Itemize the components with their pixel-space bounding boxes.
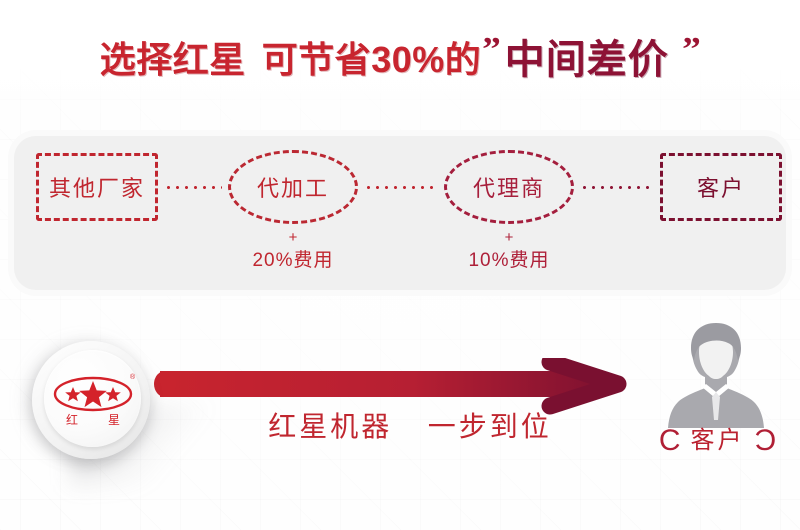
- chain-node-factory: 其他厂家: [36, 153, 158, 221]
- headline-part-2: 可节省30%的: [262, 42, 482, 78]
- slogan-part-2: 一步到位: [428, 411, 552, 442]
- hongxing-logo: ® 红 星: [44, 350, 141, 447]
- fee-oem: + 20%费用: [213, 228, 373, 274]
- fee-agent-plus: +: [429, 228, 589, 248]
- headline-part-1: 选择红星: [100, 42, 246, 78]
- chain-node-oem-label: 代加工: [257, 171, 329, 203]
- chain-node-customer: 客户: [660, 153, 782, 221]
- page-title: 选择红星 可节省30%的 ” 中间差价 ”: [0, 28, 800, 92]
- chain-node-oem: 代加工: [228, 150, 358, 224]
- customer-label: 客户: [691, 429, 745, 453]
- connector-oem-to-agent: [364, 186, 438, 189]
- bracket-right-icon: Ɔ: [755, 426, 777, 456]
- fee-agent: + 10%费用: [429, 228, 589, 274]
- businessman-silhouette: [660, 318, 772, 430]
- svg-text:红: 红: [65, 412, 77, 427]
- chain-node-customer-label: 客户: [697, 171, 745, 203]
- slogan-part-1: 红星机器: [268, 411, 392, 442]
- chain-node-agent: 代理商: [444, 150, 574, 224]
- headline-highlight: 中间差价: [505, 40, 669, 80]
- supply-chain-panel: 其他厂家 代加工 代理商 客户 + 20%费用 + 10%费用: [14, 136, 786, 290]
- fee-agent-amount: 10%费用: [429, 248, 589, 274]
- svg-text:®: ®: [130, 373, 136, 381]
- customer-label-group: C 客户 Ɔ: [640, 424, 795, 458]
- quote-close-icon: ”: [682, 33, 701, 67]
- svg-text:星: 星: [107, 413, 119, 427]
- connector-factory-to-oem: [164, 186, 222, 189]
- chain-node-agent-label: 代理商: [473, 171, 545, 203]
- fee-oem-amount: 20%费用: [213, 248, 373, 274]
- hongxing-logo-icon: ® 红 星: [50, 369, 136, 429]
- chain-node-factory-label: 其他厂家: [49, 171, 145, 203]
- bracket-left-icon: C: [659, 426, 681, 456]
- fee-oem-plus: +: [213, 228, 373, 248]
- quote-open-icon: ”: [482, 33, 501, 67]
- bottom-slogan: 红星机器 一步到位: [190, 405, 630, 445]
- connector-agent-to-customer: [580, 186, 654, 189]
